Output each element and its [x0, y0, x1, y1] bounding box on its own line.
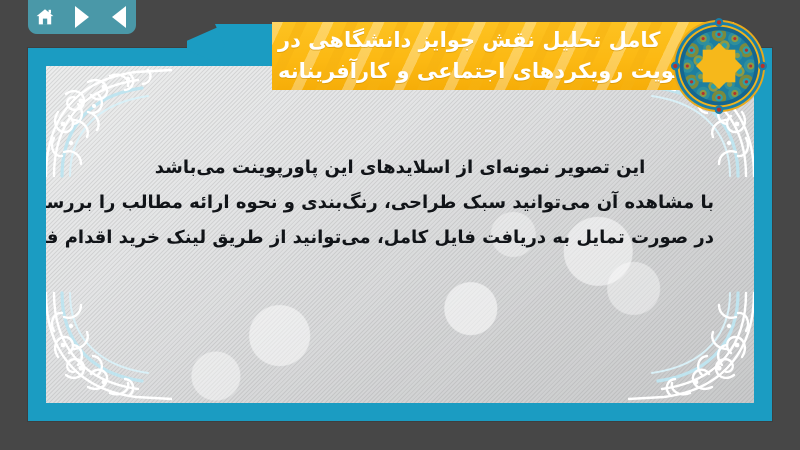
- slide-body-text: این تصویر نمونه‌ای از اسلایدهای این پاور…: [86, 154, 714, 259]
- body-line-1: این تصویر نمونه‌ای از اسلایدهای این پاور…: [86, 154, 714, 182]
- eight-point-star-icon: [696, 43, 742, 89]
- persian-medallion-icon: [671, 18, 767, 114]
- corner-ornament-bottom-right-icon: [628, 287, 754, 403]
- corner-ornament-bottom-left-icon: [46, 287, 172, 403]
- title-line-1: کامل تحلیل نقش جوایز دانشگاهی در: [278, 26, 660, 56]
- title-line-2: تقویت رویکردهای اجتماعی و کارآفرینانه: [278, 57, 697, 87]
- body-line-3: در صورت تمایل به دریافت فایل کامل، می‌تو…: [86, 224, 714, 252]
- body-line-2: با مشاهده آن می‌توانید سبک طراحی، رنگ‌بن…: [86, 189, 714, 217]
- title-text-block: کامل تحلیل نقش جوایز دانشگاهی در تقویت ر…: [272, 20, 692, 92]
- slide-content-area: این تصویر نمونه‌ای از اسلایدهای این پاور…: [46, 66, 754, 403]
- slide-canvas: این تصویر نمونه‌ای از اسلایدهای این پاور…: [0, 0, 800, 450]
- title-ribbon: کامل تحلیل نقش جوایز دانشگاهی در تقویت ر…: [0, 6, 800, 106]
